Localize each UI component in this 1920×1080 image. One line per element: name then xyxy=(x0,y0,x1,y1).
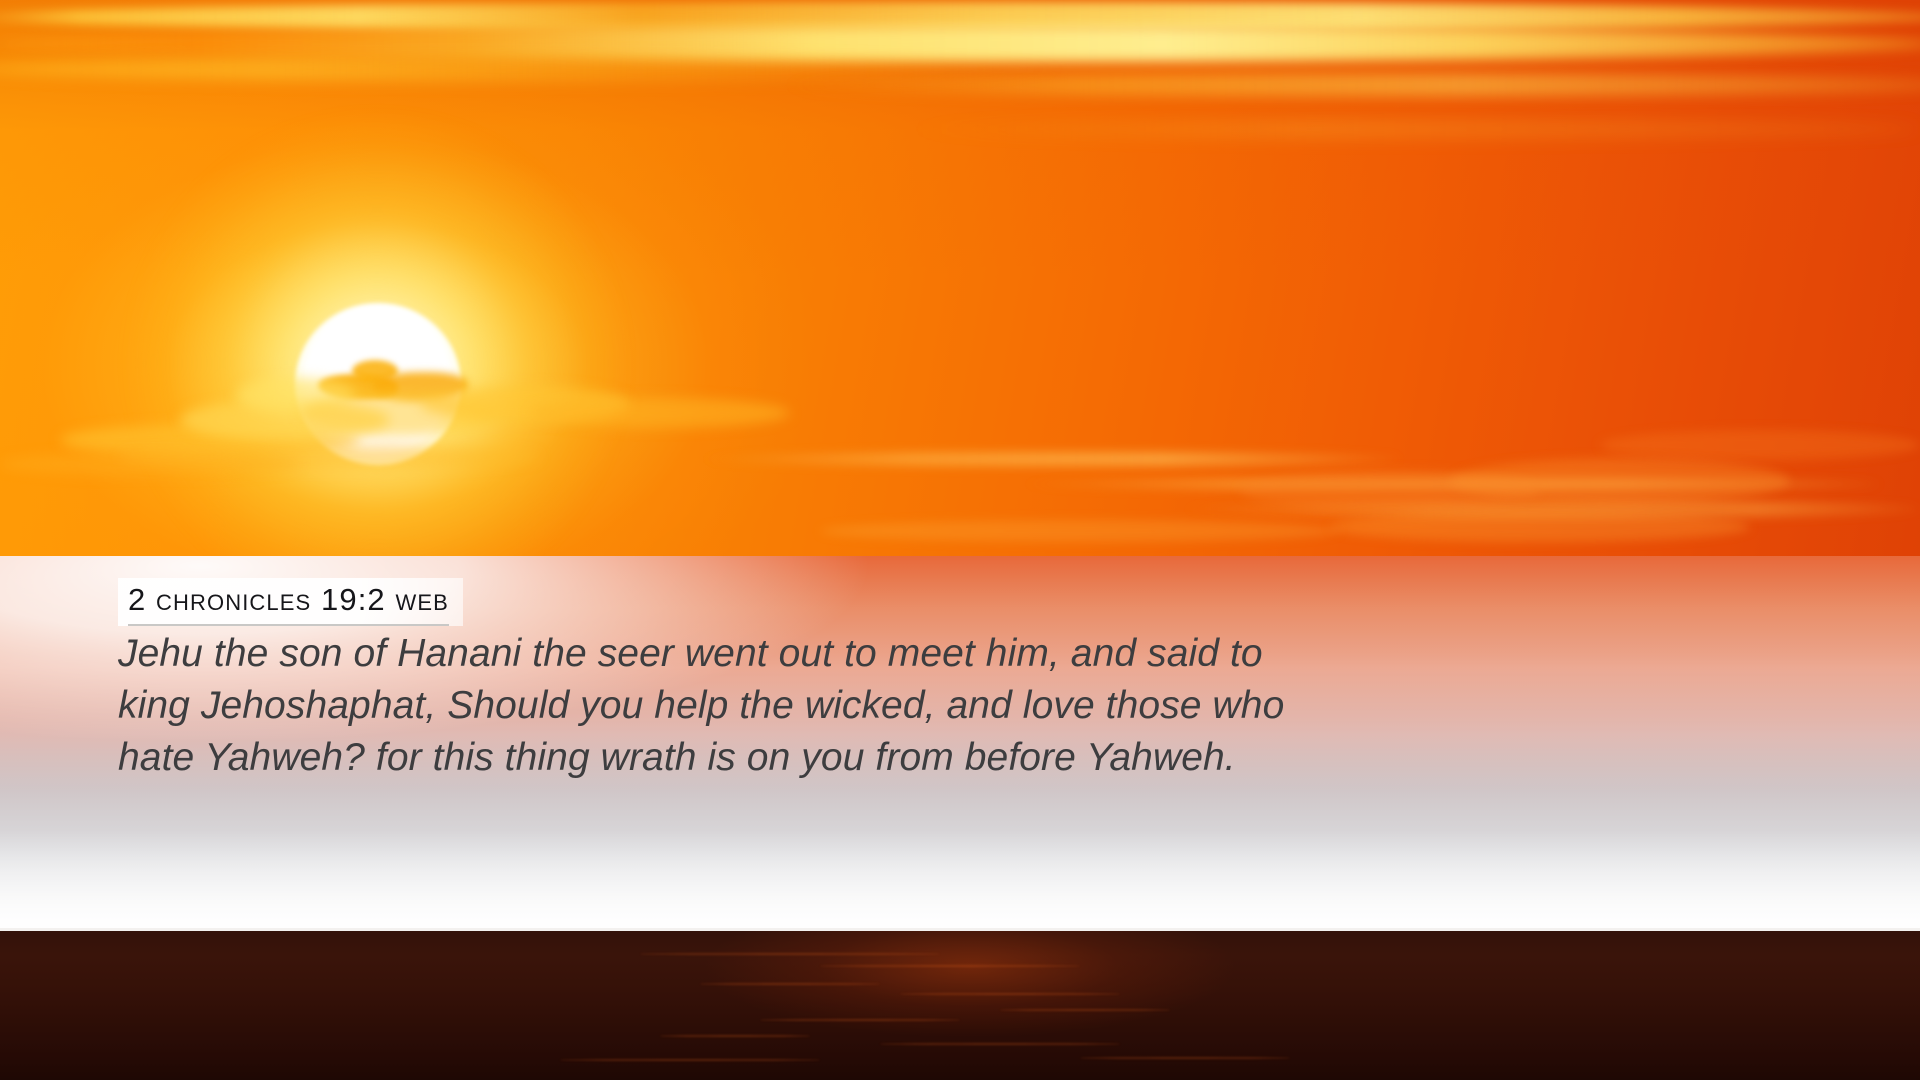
verse-image-canvas: 2 Chronicles 19:2 WEB Jehu the son of Ha… xyxy=(0,0,1920,1080)
wave-highlight xyxy=(560,1059,820,1061)
verse-line: king Jehoshaphat, Should you help the wi… xyxy=(118,680,1518,732)
horizon-cloud-8 xyxy=(0,452,300,476)
wave-highlight xyxy=(820,965,1080,967)
wave-highlight xyxy=(1080,1057,1290,1059)
wave-highlight xyxy=(760,1019,960,1021)
wispy-cloud-1 xyxy=(700,452,1400,466)
verse-citation: 2 Chronicles 19:2 WEB xyxy=(128,582,449,626)
ocean-water xyxy=(0,931,1920,1080)
wave-highlight xyxy=(700,983,880,985)
wave-highlight xyxy=(900,993,1120,995)
verse-citation-backing: 2 Chronicles 19:2 WEB xyxy=(118,578,463,626)
verse-line: Jehu the son of Hanani the seer went out… xyxy=(118,628,1518,680)
wispy-cloud-6 xyxy=(1330,512,1750,542)
verse-text: Jehu the son of Hanani the seer went out… xyxy=(118,628,1518,784)
cloud-streak-faint xyxy=(900,120,1920,138)
horizon-cloud-6 xyxy=(530,398,790,428)
wave-highlight xyxy=(880,1043,1120,1045)
wispy-cloud-7 xyxy=(820,520,1340,542)
verse-line: hate Yahweh? for this thing wrath is on … xyxy=(118,732,1518,784)
cloud-streak-top-4 xyxy=(780,74,1920,96)
wave-highlight xyxy=(1000,1009,1170,1011)
wave-highlight xyxy=(640,953,940,955)
wispy-cloud-8 xyxy=(1600,430,1920,460)
wispy-cloud-5 xyxy=(1450,458,1790,504)
wave-highlight xyxy=(660,1035,810,1037)
overlay-bottom-glow xyxy=(0,830,1920,930)
